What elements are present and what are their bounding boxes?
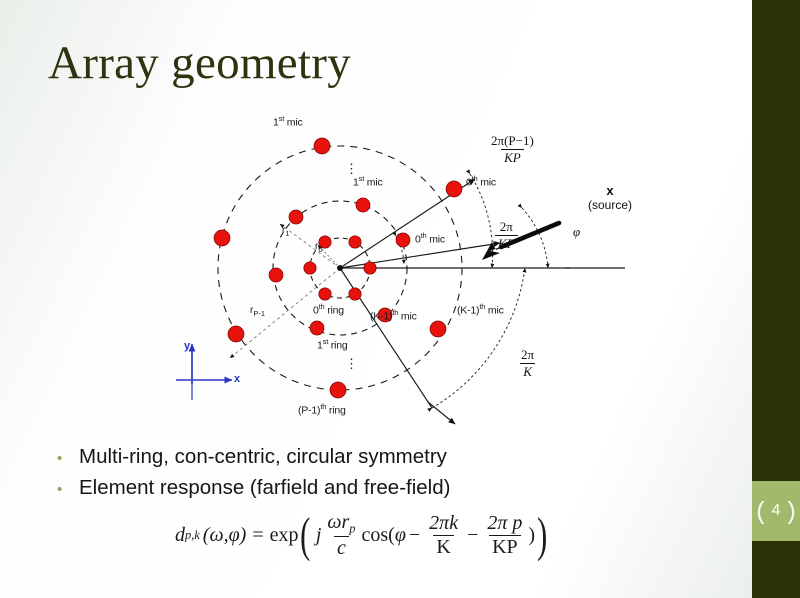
label-ring-p-minus-1: (P-1)th ring (298, 402, 346, 417)
ray-km1-ext (428, 402, 455, 424)
mic-dot (310, 321, 324, 335)
array-geometry-diagram: 1st mic 1st mic 0th mic 0th mic 0th ring… (170, 112, 690, 432)
mic-dot (430, 321, 446, 337)
page-title: Array geometry (48, 36, 351, 90)
ray-0th-mid (340, 243, 500, 268)
page-number: 4 (765, 502, 788, 520)
list-item: • Multi-ring, con-centric, circular symm… (54, 444, 654, 469)
label-1st-mic-mid: 1st mic (353, 174, 383, 189)
label-source: x (source) (588, 184, 632, 212)
annotation-2pi-p-minus-1-over-kp: 2π(P−1) KP (488, 134, 537, 165)
source-symbol: x (588, 184, 632, 199)
eq-arguments: (ω,φ) (203, 524, 247, 547)
eq-j: j (316, 524, 322, 547)
source-caption: (source) (588, 199, 632, 212)
label-radius-r1: r1 (282, 225, 290, 238)
mic-dot (304, 262, 316, 274)
eq-frac1-num: ωrp (324, 512, 358, 536)
mic-dot (349, 236, 361, 248)
mic-dot (330, 382, 346, 398)
eq-frac-2pip-over-kp: 2π p KP (484, 513, 525, 557)
diagram-svg (170, 112, 690, 432)
mic-dot (356, 198, 370, 212)
eq-exp: exp (270, 524, 299, 547)
label-ring-0th: 0th ring (313, 302, 344, 317)
list-item: • Element response (farfield and free-fi… (54, 475, 654, 500)
slide: Array geometry (0, 0, 800, 598)
array-center (337, 265, 343, 271)
eq-frac1-den: c (334, 536, 349, 558)
label-phi-angle: φ (573, 224, 580, 240)
mic-dot (319, 288, 331, 300)
bullet-text: Element response (farfield and free-fiel… (79, 475, 450, 500)
page-number-badge: ( 4 ) (752, 481, 800, 541)
eq-d-subscript: p,k (185, 528, 200, 543)
eq-frac3-den: KP (489, 535, 521, 557)
bullet-text: Multi-ring, con-centric, circular symmet… (79, 444, 447, 469)
eq-paren-open: ( (301, 520, 311, 550)
eq-frac-2pik-over-k: 2πk K (426, 513, 461, 557)
mic-dot (228, 326, 244, 342)
mic-dot (314, 138, 330, 154)
label-0th-mic-outer: 0th mic (466, 174, 496, 189)
ellipsis-bottom: ⋮ (345, 362, 358, 366)
mic-dot (396, 233, 410, 247)
mic-dot (214, 230, 230, 246)
ellipsis-top: ⋮ (345, 167, 358, 171)
axis-label-x: x (234, 373, 240, 385)
label-0th-mic-mid: 0th mic (415, 231, 445, 246)
label-radius-rp: rP-1 (250, 305, 265, 318)
bracket-right-icon: ) (787, 499, 795, 524)
eq-frac-omega-rp-over-c: ωrp c (324, 512, 358, 558)
eq-cos: cos( (361, 524, 394, 547)
angle-arc-2pi-over-k (432, 268, 525, 408)
bullet-marker-icon: • (54, 451, 79, 466)
eq-paren-close: ) (537, 520, 547, 550)
label-ring-1st: 1st ring (317, 337, 348, 352)
bullet-marker-icon: • (54, 482, 79, 497)
annotation-2pi-over-k: 2π K (518, 348, 537, 379)
annotation-2pi-over-kp: 2π KP (495, 220, 518, 251)
label-radius-r0: r0 (315, 241, 323, 254)
mic-dot (364, 262, 376, 274)
label-1st-mic-outer: 1st mic (273, 114, 303, 129)
eq-equals: = (252, 524, 263, 547)
mic-dot (269, 268, 283, 282)
bracket-left-icon: ( (756, 499, 764, 524)
axis-label-y: y (184, 340, 190, 352)
eq-close-inner: ) (528, 524, 535, 547)
label-km1-mic-outer: (K-1)th mic (457, 302, 504, 317)
mic-dot (289, 210, 303, 224)
eq-frac2-num: 2πk (426, 513, 461, 534)
eq-frac2-den: K (433, 535, 453, 557)
eq-frac3-num: 2π p (484, 513, 525, 534)
eq-d: d (175, 524, 185, 547)
label-km1-mic-inner: (K-1)th mic (370, 308, 417, 323)
mic-dot (349, 288, 361, 300)
element-response-equation: dp,k (ω,φ) = exp ( j ωrp c cos( φ − 2πk … (175, 512, 549, 558)
eq-minus-2: − (467, 524, 478, 547)
bullet-list: • Multi-ring, con-centric, circular symm… (54, 444, 654, 506)
eq-phi: φ (395, 524, 406, 547)
mic-dot (446, 181, 462, 197)
eq-minus-1: − (409, 524, 420, 547)
